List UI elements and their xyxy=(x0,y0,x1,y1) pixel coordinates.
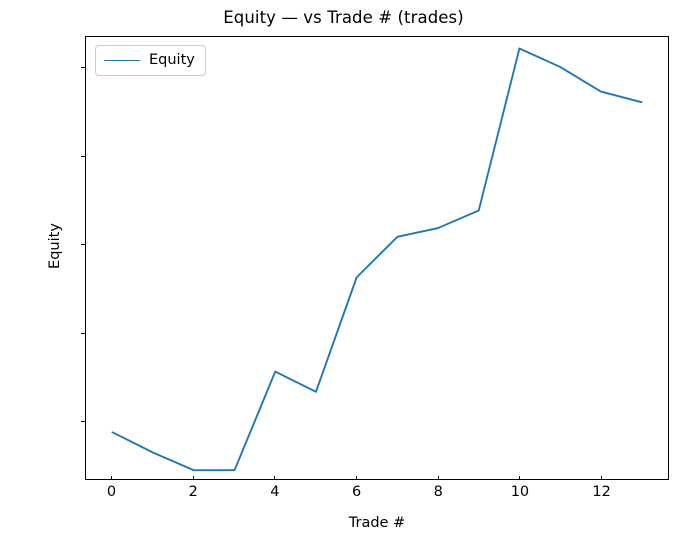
x-tick-label: 4 xyxy=(240,483,310,502)
x-tick-label: 12 xyxy=(567,483,637,502)
x-tick-mark xyxy=(193,476,194,480)
plot-area xyxy=(85,36,669,480)
equity-line-chart-figure: Equity — vs Trade # (trades) Equity Trad… xyxy=(0,0,687,546)
x-tick-mark xyxy=(274,476,275,480)
chart-title: Equity — vs Trade # (trades) xyxy=(0,8,687,27)
x-tick-label: 0 xyxy=(77,483,147,502)
x-axis-label: Trade # xyxy=(85,515,669,531)
x-tick-label: 8 xyxy=(403,483,473,502)
series-line-equity xyxy=(112,48,641,470)
y-tick-mark xyxy=(81,333,85,334)
y-axis-label: Equity xyxy=(47,186,63,306)
x-tick-label: 10 xyxy=(485,483,555,502)
x-tick-mark xyxy=(111,476,112,480)
x-tick-mark xyxy=(601,476,602,480)
y-tick-mark xyxy=(81,421,85,422)
y-tick-mark xyxy=(81,67,85,68)
x-tick-label: 2 xyxy=(158,483,228,502)
legend-label-equity: Equity xyxy=(149,52,195,69)
y-tick-mark xyxy=(81,156,85,157)
x-tick-mark xyxy=(519,476,520,480)
y-tick-mark xyxy=(81,244,85,245)
x-tick-mark xyxy=(356,476,357,480)
equity-line-plot xyxy=(86,37,668,479)
chart-legend: Equity xyxy=(95,45,206,76)
x-tick-label: 6 xyxy=(322,483,392,502)
x-tick-mark xyxy=(438,476,439,480)
legend-line-swatch-equity xyxy=(104,60,140,61)
